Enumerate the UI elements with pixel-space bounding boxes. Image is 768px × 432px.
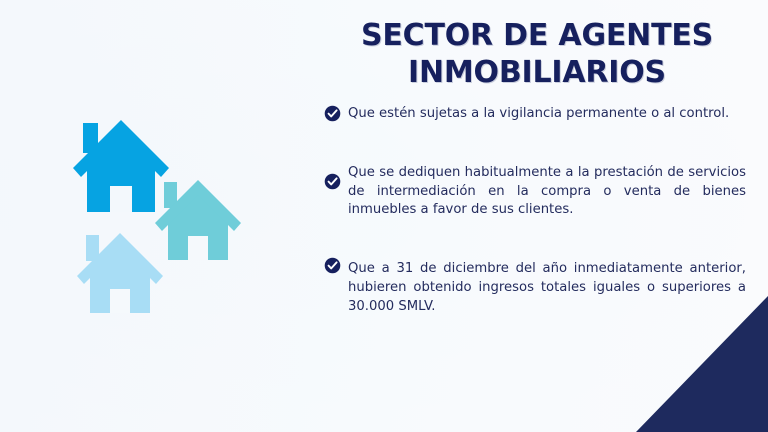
houses-illustration xyxy=(58,104,290,336)
list-item: Que estén sujetas a la vigilancia perman… xyxy=(324,105,746,124)
page-title-line-1: SECTOR DE AGENTES xyxy=(361,18,713,53)
check-circle-icon xyxy=(324,173,341,190)
list-item-label: Que estén sujetas a la vigilancia perman… xyxy=(348,105,746,124)
list-item: Que se dediquen habitualmente a la prest… xyxy=(324,164,746,220)
content-column: SECTOR DE AGENTES INMOBILIARIOS Que esté… xyxy=(306,0,768,432)
list-item-label: Que a 31 de diciembre del año inmediatam… xyxy=(348,260,746,316)
requirements-list: Que estén sujetas a la vigilancia perman… xyxy=(306,91,768,316)
check-circle-icon xyxy=(324,257,341,274)
house-small-icon xyxy=(77,233,163,313)
slide-canvas: SECTOR DE AGENTES INMOBILIARIOS Que esté… xyxy=(0,0,768,432)
house-medium-icon xyxy=(155,180,241,260)
list-item-label: Que se dediquen habitualmente a la prest… xyxy=(348,164,746,220)
page-title-line-2: INMOBILIARIOS xyxy=(408,55,666,90)
page-title: SECTOR DE AGENTES INMOBILIARIOS xyxy=(306,0,768,91)
house-large-icon xyxy=(73,120,169,212)
check-circle-icon xyxy=(324,105,341,122)
list-item: Que a 31 de diciembre del año inmediatam… xyxy=(324,260,746,316)
